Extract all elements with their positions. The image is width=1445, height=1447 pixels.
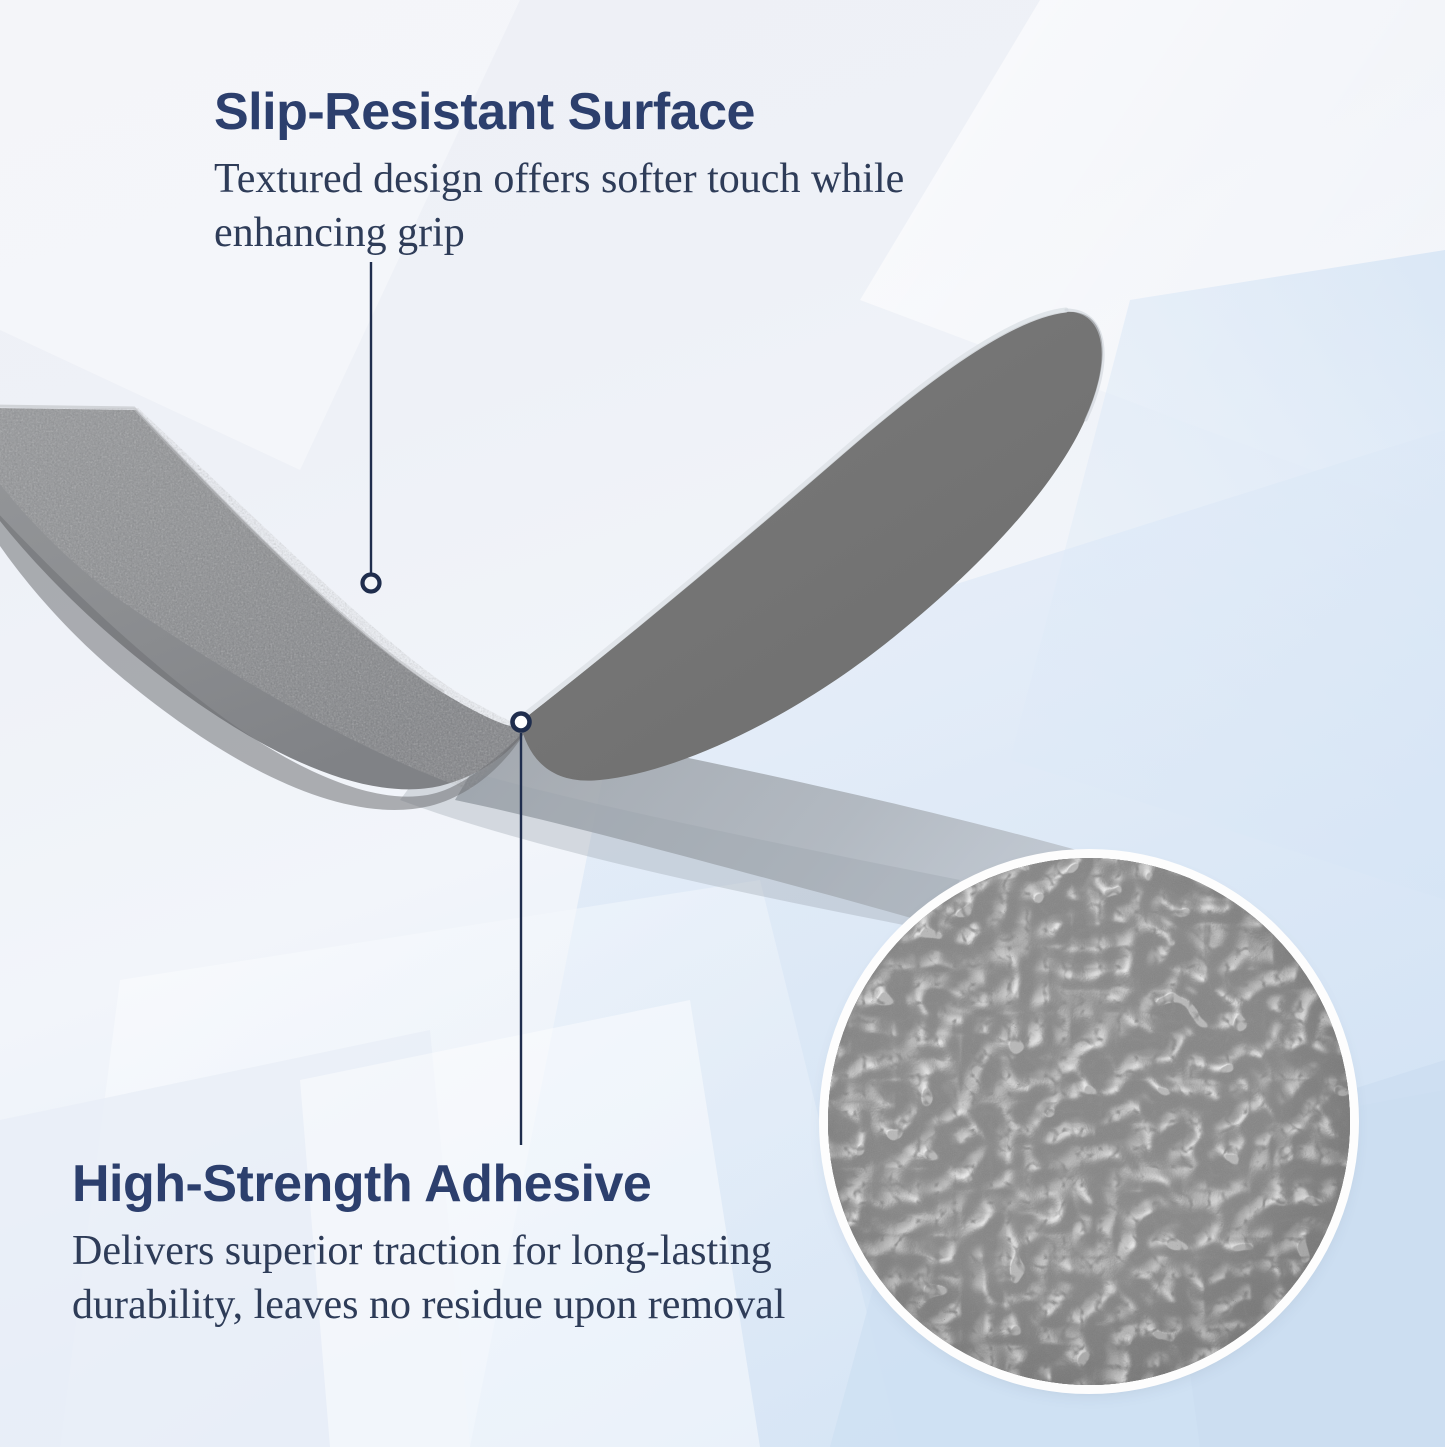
- texture-pattern: [828, 858, 1350, 1385]
- callout-description-high-strength: Delivers superior traction for long-last…: [72, 1225, 847, 1333]
- marker-high-strength: [513, 714, 530, 731]
- callout-description-slip-resistant: Textured design offers softer touch whil…: [214, 153, 944, 261]
- callout-block-high-strength: High-Strength Adhesive Delivers superior…: [72, 1158, 862, 1333]
- surface-texture-closeup-inset: [828, 858, 1350, 1385]
- callout-title-high-strength: High-Strength Adhesive: [72, 1158, 862, 1211]
- callout-block-slip-resistant: Slip-Resistant Surface Textured design o…: [214, 86, 974, 261]
- infographic-canvas: Slip-Resistant Surface Textured design o…: [0, 0, 1445, 1447]
- marker-slip-resistant: [363, 575, 380, 592]
- callout-title-slip-resistant: Slip-Resistant Surface: [214, 86, 974, 139]
